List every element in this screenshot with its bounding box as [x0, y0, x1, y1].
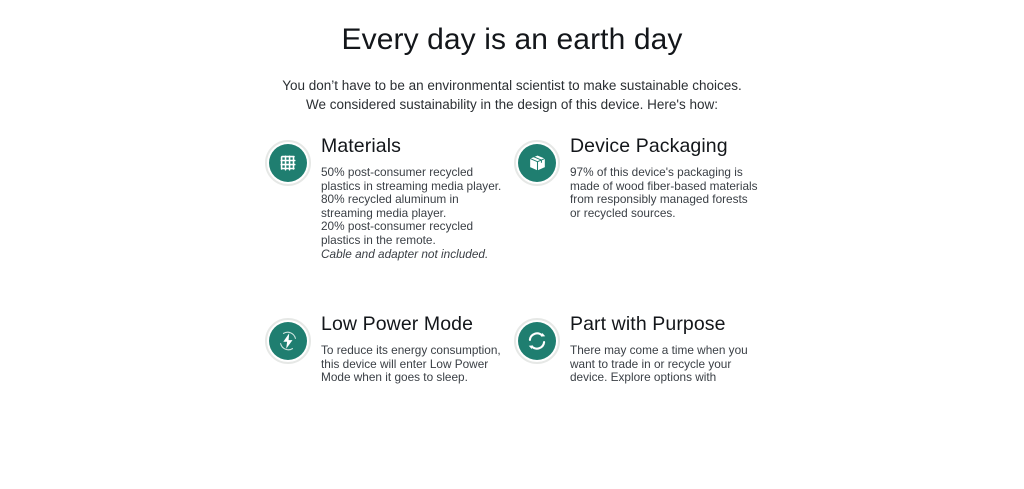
feature-body: Materials 50% post-consumer recycled pla…: [321, 133, 510, 261]
feature-text-line: device. Explore options with: [570, 371, 759, 385]
recycle-arrows-icon: [518, 322, 556, 360]
lightning-bolt-icon: [269, 322, 307, 360]
feature-text-line: from responsibly managed forests: [570, 193, 759, 207]
feature-grid: Materials 50% post-consumer recycled pla…: [265, 133, 759, 489]
feature-title: Low Power Mode: [321, 311, 510, 338]
feature-text-line: want to trade in or recycle your: [570, 358, 759, 372]
feature-text-line-note: Cable and adapter not included.: [321, 248, 510, 262]
feature-text-line: 80% recycled aluminum in: [321, 193, 510, 207]
feature-text-line: plastics in the remote.: [321, 234, 510, 248]
feature-description: There may come a time when you want to t…: [570, 344, 759, 385]
feature-text-line: 20% post-consumer recycled: [321, 220, 510, 234]
feature-text-line: made of wood fiber-based materials: [570, 180, 759, 194]
page-intro: Every day is an earth day You don’t have…: [0, 0, 1024, 114]
sustainability-page: Every day is an earth day You don’t have…: [0, 0, 1024, 481]
feature-card-materials: Materials 50% post-consumer recycled pla…: [265, 133, 510, 311]
feature-title: Materials: [321, 133, 510, 160]
feature-card-low-power-mode: Low Power Mode To reduce its energy cons…: [265, 311, 510, 489]
package-box-icon: [518, 144, 556, 182]
feature-title: Device Packaging: [570, 133, 759, 160]
feature-description: 97% of this device's packaging is made o…: [570, 166, 759, 220]
feature-body: Low Power Mode To reduce its energy cons…: [321, 311, 510, 385]
feature-icon-ring: [514, 318, 560, 364]
page-subtitle: You don’t have to be an environmental sc…: [277, 76, 747, 114]
feature-text-line: To reduce its energy consumption,: [321, 344, 510, 358]
feature-text-line: this device will enter Low Power: [321, 358, 510, 372]
feature-text-line: 97% of this device's packaging is: [570, 166, 759, 180]
feature-icon-ring: [514, 140, 560, 186]
feature-icon-ring: [265, 318, 311, 364]
feature-card-device-packaging: Device Packaging 97% of this device's pa…: [514, 133, 759, 311]
feature-description: 50% post-consumer recycled plastics in s…: [321, 166, 510, 261]
feature-text-line: There may come a time when you: [570, 344, 759, 358]
page-title: Every day is an earth day: [0, 20, 1024, 60]
feature-text-line: streaming media player.: [321, 207, 510, 221]
feature-icon-ring: [265, 140, 311, 186]
feature-text-line: plastics in streaming media player.: [321, 180, 510, 194]
feature-title: Part with Purpose: [570, 311, 759, 338]
feature-text-line: or recycled sources.: [570, 207, 759, 221]
feature-body: Device Packaging 97% of this device's pa…: [570, 133, 759, 220]
feature-text-line: 50% post-consumer recycled: [321, 166, 510, 180]
feature-text-line: Mode when it goes to sleep.: [321, 371, 510, 385]
feature-description: To reduce its energy consumption, this d…: [321, 344, 510, 385]
feature-body: Part with Purpose There may come a time …: [570, 311, 759, 385]
feature-card-part-with-purpose: Part with Purpose There may come a time …: [514, 311, 759, 489]
woven-mesh-icon: [269, 144, 307, 182]
